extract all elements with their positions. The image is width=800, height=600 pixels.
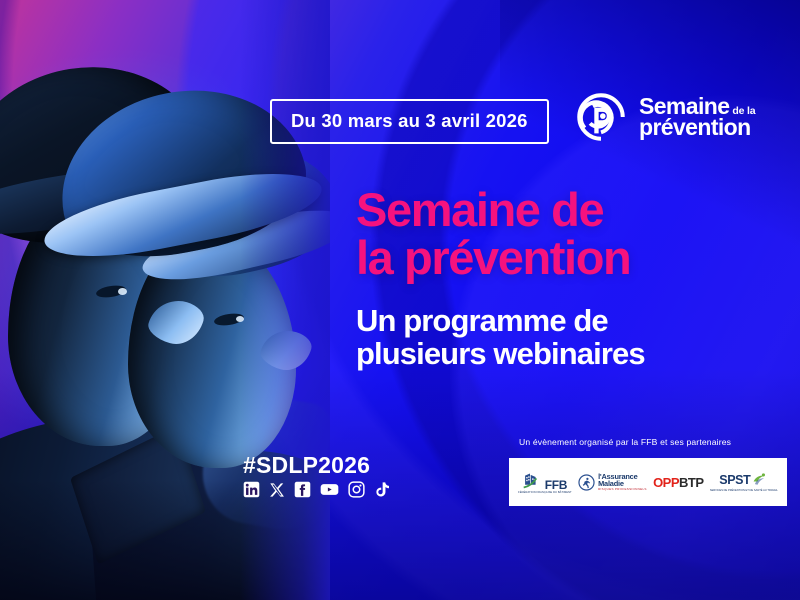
spst-name: SPST <box>719 474 750 487</box>
page-subtitle: Un programme de plusieurs webinaires <box>356 305 645 371</box>
organizer-credit: Un évènement organisé par la FFB et ses … <box>519 437 731 447</box>
oppbtp-part2: BTP <box>679 475 704 490</box>
headline-line-1: Semaine de <box>356 186 630 234</box>
brand-wordmark: Semaine de la prévention <box>639 96 755 138</box>
oppbtp-part1: OPP <box>653 475 679 490</box>
worker-back-eye-highlight <box>118 288 127 295</box>
spst-subtitle: SERVICES DE PRÉVENTION ET DE SANTÉ AU TR… <box>710 490 778 493</box>
workers-portrait-image <box>0 0 330 600</box>
ffb-name: FFB <box>545 479 567 491</box>
prevention-week-banner: Du 30 mars au 3 avril 2026 Semaine de la… <box>0 0 800 600</box>
date-badge: Du 30 mars au 3 avril 2026 <box>270 99 549 144</box>
x-twitter-icon[interactable] <box>269 482 285 498</box>
spst-swirl-icon <box>751 471 768 488</box>
tiktok-icon[interactable] <box>374 481 389 498</box>
brand-logo: Semaine de la prévention <box>572 88 755 146</box>
ffb-subtitle: FÉDÉRATION FRANÇAISE DU BÂTIMENT <box>518 492 572 495</box>
facebook-icon[interactable] <box>294 481 311 498</box>
linkedin-icon[interactable] <box>243 481 260 498</box>
hashtag: #SDLP2026 <box>243 452 370 479</box>
portrait-right-fade <box>240 0 330 600</box>
partner-logo-ffb: FFB FÉDÉRATION FRANÇAISE DU BÂTIMENT <box>518 470 572 495</box>
subhead-line-2: plusieurs webinaires <box>356 338 645 371</box>
partner-logos-strip: FFB FÉDÉRATION FRANÇAISE DU BÂTIMENT l'A… <box>509 458 787 506</box>
youtube-icon[interactable] <box>320 481 339 498</box>
prevention-spiral-logo-icon <box>572 88 630 146</box>
social-links <box>243 481 389 498</box>
page-title: Semaine de la prévention <box>356 186 630 283</box>
ffb-mark-row: FFB <box>523 470 567 491</box>
headline-line-2: la prévention <box>356 234 630 282</box>
assurance-maladie-runner-icon <box>578 474 595 491</box>
assurance-maladie-line3: RISQUES PROFESSIONNELS <box>598 488 647 491</box>
subhead-line-1: Un programme de <box>356 305 645 338</box>
partner-logo-spst: SPST SERVICES DE PRÉVENTION ET DE SANTÉ … <box>710 471 778 492</box>
oppbtp-wordmark: OPPBTP <box>653 475 703 490</box>
instagram-icon[interactable] <box>348 481 365 498</box>
ffb-building-icon <box>523 470 544 491</box>
spst-mark-row: SPST <box>719 471 768 488</box>
assurance-maladie-line2: Maladie <box>598 480 647 487</box>
brand-word-second: prévention <box>639 117 755 138</box>
assurance-maladie-wordmark: l'Assurance Maladie RISQUES PROFESSIONNE… <box>598 473 647 492</box>
partner-logo-assurance-maladie: l'Assurance Maladie RISQUES PROFESSIONNE… <box>578 473 647 492</box>
partner-logo-oppbtp: OPPBTP <box>653 475 703 490</box>
